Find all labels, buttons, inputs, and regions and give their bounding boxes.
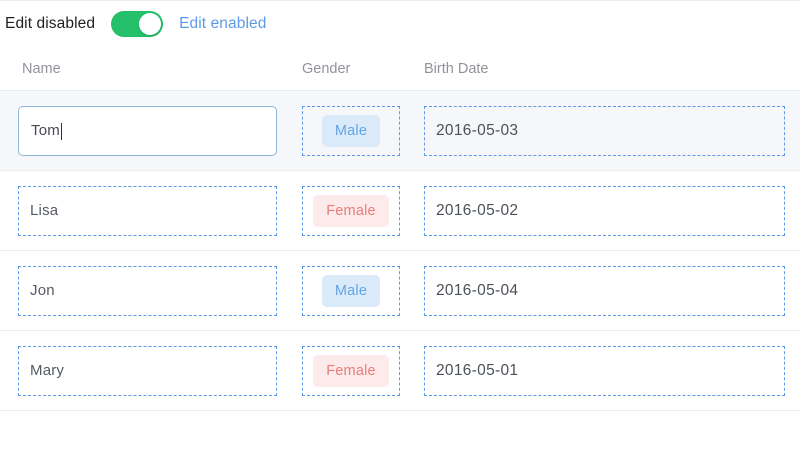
table-row[interactable]: Lisa Female 2016-05-02 — [0, 171, 800, 251]
cell-birth-date[interactable]: 2016-05-02 — [424, 171, 800, 250]
edit-mode-toolbar: Edit disabled Edit enabled — [0, 1, 800, 47]
gender-editable-box[interactable]: Female — [302, 186, 400, 236]
birth-date-editable-box[interactable]: 2016-05-04 — [424, 266, 785, 316]
cell-name[interactable]: Mary — [0, 331, 302, 410]
table-row[interactable]: Mary Female 2016-05-01 — [0, 331, 800, 411]
cell-birth-date[interactable]: 2016-05-03 — [424, 91, 800, 170]
column-header-birth-date: Birth Date — [424, 61, 800, 77]
name-editable-box[interactable]: Lisa — [18, 186, 277, 236]
column-header-name: Name — [0, 61, 302, 77]
birth-date-value: 2016-05-04 — [436, 282, 518, 300]
gender-tag[interactable]: Female — [313, 195, 389, 227]
birth-date-value: 2016-05-02 — [436, 202, 518, 220]
table-header-row: Name Gender Birth Date — [0, 47, 800, 91]
name-editable-box[interactable]: Mary — [18, 346, 277, 396]
edit-disabled-label: Edit disabled — [5, 16, 95, 32]
gender-tag[interactable]: Male — [322, 275, 380, 307]
birth-date-value: 2016-05-01 — [436, 362, 518, 380]
gender-editable-box[interactable]: Male — [302, 106, 400, 156]
cell-name[interactable]: Lisa — [0, 171, 302, 250]
table-row[interactable]: Jon Male 2016-05-04 — [0, 251, 800, 331]
cell-birth-date[interactable]: 2016-05-01 — [424, 331, 800, 410]
edit-mode-toggle[interactable] — [111, 11, 163, 37]
gender-editable-box[interactable]: Male — [302, 266, 400, 316]
name-editable-box[interactable]: Jon — [18, 266, 277, 316]
page-root: Edit disabled Edit enabled Name Gender B… — [0, 0, 800, 459]
name-value: Lisa — [30, 202, 58, 219]
gender-tag[interactable]: Male — [322, 115, 380, 147]
edit-enabled-label[interactable]: Edit enabled — [179, 16, 266, 32]
birth-date-value: 2016-05-03 — [436, 122, 518, 140]
cell-name[interactable]: Tom — [0, 91, 302, 170]
birth-date-editable-box[interactable]: 2016-05-02 — [424, 186, 785, 236]
gender-tag[interactable]: Female — [313, 355, 389, 387]
table-row[interactable]: Tom Male 2016-05-03 — [0, 91, 800, 171]
text-caret-icon — [61, 123, 62, 140]
birth-date-editable-box[interactable]: 2016-05-01 — [424, 346, 785, 396]
cell-birth-date[interactable]: 2016-05-04 — [424, 251, 800, 330]
column-header-gender: Gender — [302, 61, 424, 77]
cell-gender[interactable]: Female — [302, 171, 424, 250]
gender-editable-box[interactable]: Female — [302, 346, 400, 396]
cell-name[interactable]: Jon — [0, 251, 302, 330]
name-input[interactable]: Tom — [18, 106, 277, 156]
people-table: Name Gender Birth Date Tom Male 2016-05-… — [0, 47, 800, 411]
toggle-knob-icon — [139, 13, 161, 35]
cell-gender[interactable]: Female — [302, 331, 424, 410]
cell-gender[interactable]: Male — [302, 251, 424, 330]
name-value: Mary — [30, 362, 64, 379]
name-input-value: Tom — [31, 122, 60, 139]
name-value: Jon — [30, 282, 55, 299]
birth-date-editable-box[interactable]: 2016-05-03 — [424, 106, 785, 156]
cell-gender[interactable]: Male — [302, 91, 424, 170]
